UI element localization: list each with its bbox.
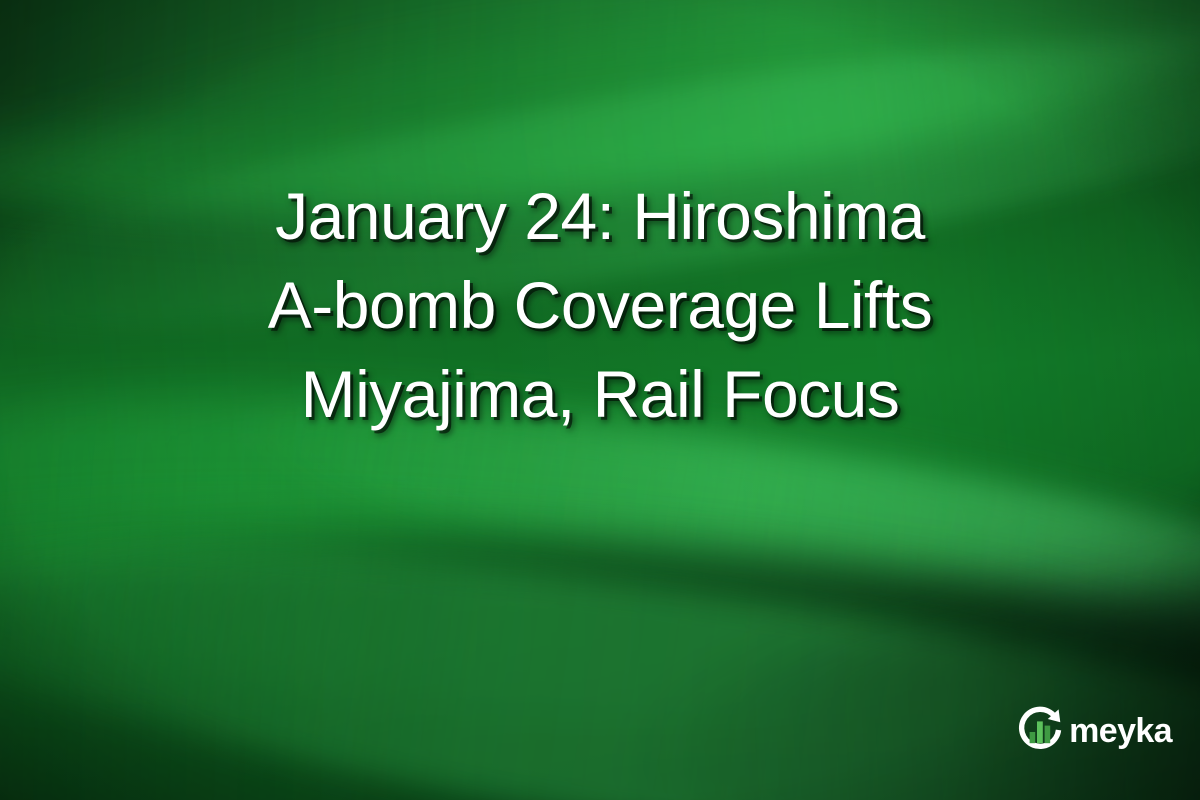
headline: January 24: Hiroshima A-bomb Coverage Li… [0, 172, 1200, 439]
headline-line-3: Miyajima, Rail Focus [70, 350, 1130, 439]
brand-logo[interactable]: meyka [1014, 704, 1176, 756]
background-shadow-band-top [0, 0, 1200, 172]
headline-line-2: A-bomb Coverage Lifts [70, 261, 1130, 350]
social-share-card: January 24: Hiroshima A-bomb Coverage Li… [0, 0, 1200, 800]
meyka-logo-icon [1014, 704, 1066, 756]
headline-line-1: January 24: Hiroshima [70, 172, 1130, 261]
background-shadow-band-right [613, 544, 1200, 800]
brand-wordmark: meyka [1069, 714, 1172, 748]
